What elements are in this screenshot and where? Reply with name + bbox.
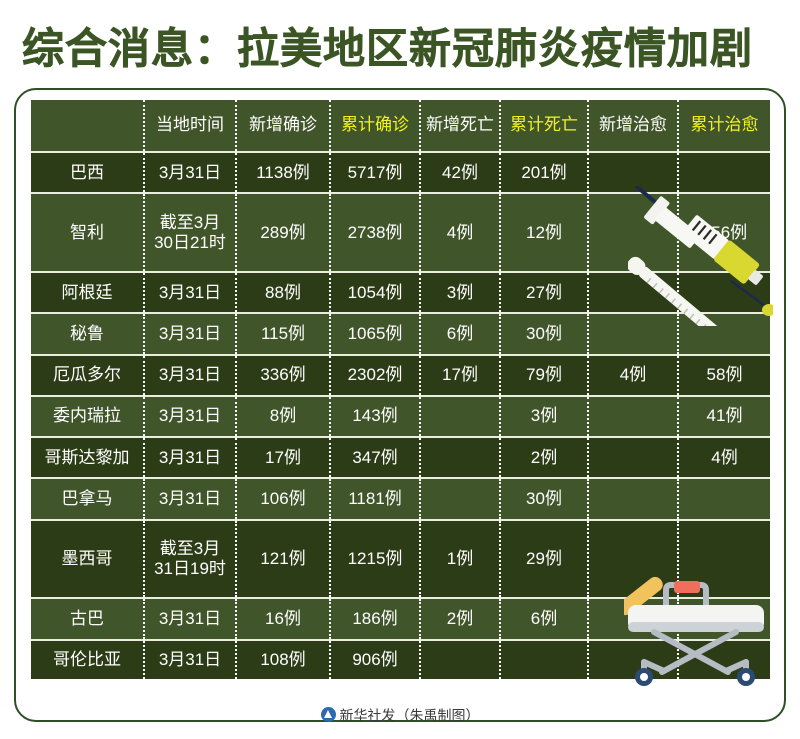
cell-new-deaths: 3例 bbox=[420, 272, 500, 313]
cell-total-recovered bbox=[678, 640, 770, 679]
covid-data-table: 当地时间 新增确诊 累计确诊 新增死亡 累计死亡 新增治愈 累计治愈 巴西3月3… bbox=[31, 100, 770, 679]
credit-line: 新华社发（朱禹制图） bbox=[0, 704, 800, 724]
covid-data-table-container: 当地时间 新增确诊 累计确诊 新增死亡 累计死亡 新增治愈 累计治愈 巴西3月3… bbox=[31, 100, 770, 679]
table-row: 墨西哥截至3月31日19时121例1215例1例29例 bbox=[31, 520, 770, 599]
cell-local-time: 截至3月31日19时 bbox=[144, 520, 236, 599]
cell-total-deaths: 30例 bbox=[500, 313, 588, 354]
cell-total-deaths: 79例 bbox=[500, 355, 588, 396]
cell-total-deaths: 2例 bbox=[500, 437, 588, 478]
cell-new-deaths bbox=[420, 478, 500, 519]
table-row: 阿根廷3月31日88例1054例3例27例 bbox=[31, 272, 770, 313]
cell-total-deaths: 201例 bbox=[500, 152, 588, 193]
cell-total-confirmed: 143例 bbox=[330, 396, 420, 437]
cell-total-confirmed: 2302例 bbox=[330, 355, 420, 396]
cell-country: 秘鲁 bbox=[31, 313, 144, 354]
cell-total-recovered: 41例 bbox=[678, 396, 770, 437]
cell-total-confirmed: 1181例 bbox=[330, 478, 420, 519]
cell-local-time: 3月31日 bbox=[144, 355, 236, 396]
cell-country: 墨西哥 bbox=[31, 520, 144, 599]
credit-text: 新华社发（朱禹制图） bbox=[340, 707, 480, 723]
cell-new-deaths: 4例 bbox=[420, 193, 500, 272]
xinhua-logo-icon bbox=[321, 707, 336, 722]
column-header-total-deaths: 累计死亡 bbox=[500, 100, 588, 152]
cell-country: 巴西 bbox=[31, 152, 144, 193]
cell-new-deaths bbox=[420, 396, 500, 437]
column-header-new-confirmed: 新增确诊 bbox=[236, 100, 330, 152]
cell-new-recovered bbox=[588, 478, 678, 519]
cell-total-deaths: 6例 bbox=[500, 598, 588, 639]
cell-new-recovered bbox=[588, 193, 678, 272]
cell-total-confirmed: 2738例 bbox=[330, 193, 420, 272]
cell-local-time: 截至3月30日21时 bbox=[144, 193, 236, 272]
cell-total-recovered: 4例 bbox=[678, 437, 770, 478]
cell-new-deaths: 6例 bbox=[420, 313, 500, 354]
column-header-country bbox=[31, 100, 144, 152]
cell-country: 厄瓜多尔 bbox=[31, 355, 144, 396]
cell-new-confirmed: 1138例 bbox=[236, 152, 330, 193]
table-row: 古巴3月31日16例186例2例6例 bbox=[31, 598, 770, 639]
cell-new-confirmed: 106例 bbox=[236, 478, 330, 519]
table-row: 哥伦比亚3月31日108例906例 bbox=[31, 640, 770, 679]
cell-new-confirmed: 16例 bbox=[236, 598, 330, 639]
cell-total-recovered bbox=[678, 598, 770, 639]
cell-country: 哥斯达黎加 bbox=[31, 437, 144, 478]
cell-new-recovered bbox=[588, 272, 678, 313]
cell-total-recovered bbox=[678, 272, 770, 313]
cell-country: 巴拿马 bbox=[31, 478, 144, 519]
cell-local-time: 3月31日 bbox=[144, 396, 236, 437]
cell-new-confirmed: 88例 bbox=[236, 272, 330, 313]
cell-total-confirmed: 1065例 bbox=[330, 313, 420, 354]
cell-local-time: 3月31日 bbox=[144, 152, 236, 193]
table-body: 巴西3月31日1138例5717例42例201例智利截至3月30日21时289例… bbox=[31, 152, 770, 679]
table-header: 当地时间 新增确诊 累计确诊 新增死亡 累计死亡 新增治愈 累计治愈 bbox=[31, 100, 770, 152]
cell-new-confirmed: 108例 bbox=[236, 640, 330, 679]
cell-new-deaths: 17例 bbox=[420, 355, 500, 396]
cell-total-recovered bbox=[678, 313, 770, 354]
cell-total-recovered: 156例 bbox=[678, 193, 770, 272]
cell-total-deaths: 3例 bbox=[500, 396, 588, 437]
table-row: 厄瓜多尔3月31日336例2302例17例79例4例58例 bbox=[31, 355, 770, 396]
page-title: 综合消息：拉美地区新冠肺炎疫情加剧 bbox=[22, 22, 782, 76]
cell-local-time: 3月31日 bbox=[144, 640, 236, 679]
cell-new-deaths bbox=[420, 437, 500, 478]
cell-total-confirmed: 1215例 bbox=[330, 520, 420, 599]
cell-total-recovered: 58例 bbox=[678, 355, 770, 396]
cell-new-confirmed: 289例 bbox=[236, 193, 330, 272]
cell-new-confirmed: 121例 bbox=[236, 520, 330, 599]
cell-total-deaths: 12例 bbox=[500, 193, 588, 272]
cell-local-time: 3月31日 bbox=[144, 478, 236, 519]
cell-local-time: 3月31日 bbox=[144, 313, 236, 354]
cell-country: 委内瑞拉 bbox=[31, 396, 144, 437]
column-header-new-recovered: 新增治愈 bbox=[588, 100, 678, 152]
cell-country: 古巴 bbox=[31, 598, 144, 639]
column-header-total-confirmed: 累计确诊 bbox=[330, 100, 420, 152]
cell-total-recovered bbox=[678, 520, 770, 599]
table-row: 巴西3月31日1138例5717例42例201例 bbox=[31, 152, 770, 193]
cell-new-recovered bbox=[588, 640, 678, 679]
table-row: 哥斯达黎加3月31日17例347例2例4例 bbox=[31, 437, 770, 478]
cell-country: 哥伦比亚 bbox=[31, 640, 144, 679]
cell-total-confirmed: 906例 bbox=[330, 640, 420, 679]
cell-total-confirmed: 5717例 bbox=[330, 152, 420, 193]
table-row: 秘鲁3月31日115例1065例6例30例 bbox=[31, 313, 770, 354]
cell-total-recovered bbox=[678, 478, 770, 519]
table-row: 智利截至3月30日21时289例2738例4例12例156例 bbox=[31, 193, 770, 272]
cell-new-deaths: 42例 bbox=[420, 152, 500, 193]
cell-total-recovered bbox=[678, 152, 770, 193]
cell-country: 智利 bbox=[31, 193, 144, 272]
table-row: 巴拿马3月31日106例1181例30例 bbox=[31, 478, 770, 519]
cell-total-deaths: 27例 bbox=[500, 272, 588, 313]
cell-new-recovered bbox=[588, 313, 678, 354]
cell-local-time: 3月31日 bbox=[144, 272, 236, 313]
cell-total-deaths: 29例 bbox=[500, 520, 588, 599]
cell-local-time: 3月31日 bbox=[144, 598, 236, 639]
table-row: 委内瑞拉3月31日8例143例3例41例 bbox=[31, 396, 770, 437]
column-header-total-recovered: 累计治愈 bbox=[678, 100, 770, 152]
cell-new-confirmed: 115例 bbox=[236, 313, 330, 354]
cell-new-deaths: 2例 bbox=[420, 598, 500, 639]
cell-new-deaths bbox=[420, 640, 500, 679]
cell-new-confirmed: 8例 bbox=[236, 396, 330, 437]
cell-total-confirmed: 1054例 bbox=[330, 272, 420, 313]
cell-new-recovered bbox=[588, 598, 678, 639]
cell-total-deaths: 30例 bbox=[500, 478, 588, 519]
table-header-row: 当地时间 新增确诊 累计确诊 新增死亡 累计死亡 新增治愈 累计治愈 bbox=[31, 100, 770, 152]
cell-total-confirmed: 186例 bbox=[330, 598, 420, 639]
cell-country: 阿根廷 bbox=[31, 272, 144, 313]
cell-new-confirmed: 336例 bbox=[236, 355, 330, 396]
cell-local-time: 3月31日 bbox=[144, 437, 236, 478]
cell-total-confirmed: 347例 bbox=[330, 437, 420, 478]
cell-new-recovered bbox=[588, 520, 678, 599]
cell-new-recovered bbox=[588, 437, 678, 478]
cell-new-confirmed: 17例 bbox=[236, 437, 330, 478]
cell-total-deaths bbox=[500, 640, 588, 679]
column-header-new-deaths: 新增死亡 bbox=[420, 100, 500, 152]
cell-new-recovered bbox=[588, 152, 678, 193]
cell-new-deaths: 1例 bbox=[420, 520, 500, 599]
column-header-local-time: 当地时间 bbox=[144, 100, 236, 152]
cell-new-recovered bbox=[588, 396, 678, 437]
cell-new-recovered: 4例 bbox=[588, 355, 678, 396]
